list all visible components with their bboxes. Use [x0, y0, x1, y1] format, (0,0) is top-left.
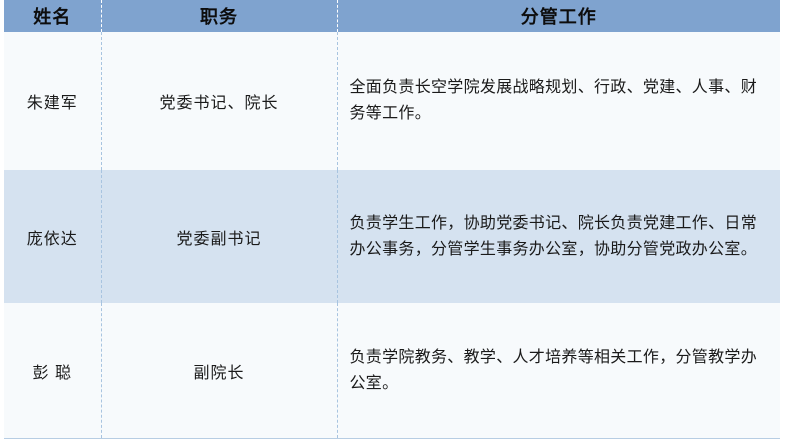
- table-row: 朱建军 党委书记、院长 全面负责长空学院发展战略规划、行政、党建、人事、财务等工…: [4, 32, 780, 170]
- table-row: 彭 聪 副院长 负责学院教务、教学、人才培养等相关工作，分管教学办公室。: [4, 303, 780, 438]
- column-header-post: 职务: [101, 0, 337, 32]
- cell-name: 朱建军: [4, 32, 101, 170]
- cell-name: 彭 聪: [4, 303, 101, 438]
- column-header-duty: 分管工作: [337, 0, 780, 32]
- cell-post: 副院长: [101, 303, 337, 438]
- cell-duty: 全面负责长空学院发展战略规划、行政、党建、人事、财务等工作。: [337, 32, 780, 170]
- cell-duty: 负责学生工作，协助党委书记、院长负责党建工作、日常办公事务，分管学生事务办公室，…: [337, 170, 780, 303]
- table-header: 姓名 职务 分管工作: [4, 0, 780, 32]
- duty-table-container: 姓名 职务 分管工作 朱建军 党委书记、院长 全面负责长空学院发展战略规划、行政…: [0, 0, 798, 445]
- cell-duty: 负责学院教务、教学、人才培养等相关工作，分管教学办公室。: [337, 303, 780, 438]
- cell-name: 庞依达: [4, 170, 101, 303]
- column-header-name: 姓名: [4, 0, 101, 32]
- table-row: 庞依达 党委副书记 负责学生工作，协助党委书记、院长负责党建工作、日常办公事务，…: [4, 170, 780, 303]
- leadership-duty-table: 姓名 职务 分管工作 朱建军 党委书记、院长 全面负责长空学院发展战略规划、行政…: [4, 0, 780, 438]
- table-body: 朱建军 党委书记、院长 全面负责长空学院发展战略规划、行政、党建、人事、财务等工…: [4, 32, 780, 438]
- cell-post: 党委书记、院长: [101, 32, 337, 170]
- table-header-row: 姓名 职务 分管工作: [4, 0, 780, 32]
- cell-post: 党委副书记: [101, 170, 337, 303]
- table-bottom-rule: [4, 438, 780, 439]
